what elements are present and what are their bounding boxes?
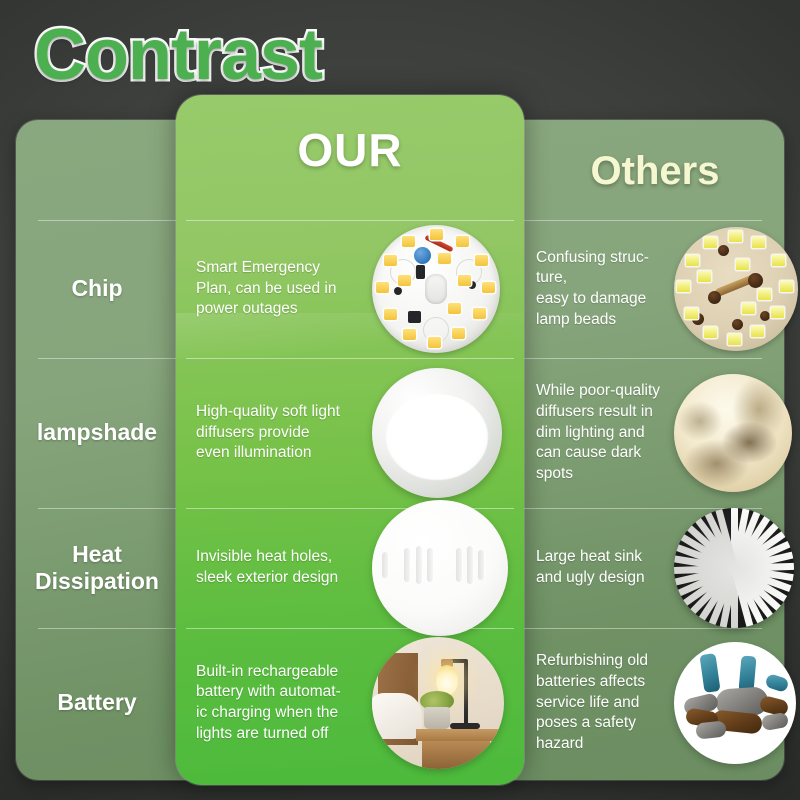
white-diffuser-sphere-icon [372,368,502,498]
smooth-white-disc-icon [372,500,508,636]
header-others: Others [524,122,786,220]
others-cell-chip: Confusing struc- ture, easy to damage la… [522,220,784,358]
others-cell-lampshade: While poor-quality diffusers result in d… [522,358,784,508]
our-text-chip: Smart Emergency Plan, can be used in pow… [196,258,368,320]
our-cell-chip: Smart Emergency Plan, can be used in pow… [178,220,522,358]
our-cell-battery: Built-in rechargeable battery with autom… [178,628,522,778]
led-chip-board-icon [372,225,500,353]
header-our: OUR [176,100,524,200]
page-title: Contrast [34,18,322,94]
others-text-heat-dissipation: Large heat sink and ugly design [536,547,672,588]
blotchy-diffuser-icon [674,374,792,492]
row-label-heat-dissipation: Heat Dissipation [16,508,178,628]
table-row: Chip Smart Emergency Plan, can be used i… [16,220,784,358]
our-cell-heat-dissipation: Invisible heat holes, sleek exterior des… [178,508,522,628]
our-cell-lampshade: High-quality soft light diffusers provid… [178,358,522,508]
our-text-heat-dissipation: Invisible heat holes, sleek exterior des… [196,547,368,588]
table-row: lampshade High-quality soft light diffus… [16,358,784,508]
finned-heat-sink-icon [674,508,794,628]
corroded-batteries-icon [674,642,796,764]
others-cell-battery: Refurbishing old batteries affects servi… [522,628,784,778]
row-label-battery: Battery [16,628,178,778]
our-text-lampshade: High-quality soft light diffusers provid… [196,402,368,464]
others-cell-heat-dissipation: Large heat sink and ugly design [522,508,784,628]
bedroom-lamp-scene-icon [372,637,504,769]
damaged-led-board-icon [674,227,798,351]
our-text-battery: Built-in rechargeable battery with autom… [196,662,368,744]
others-text-lampshade: While poor-quality diffusers result in d… [536,381,672,484]
row-label-chip: Chip [16,220,178,358]
page-title-wrap: Contrast [34,18,322,94]
row-label-lampshade: lampshade [16,358,178,508]
table-row: Battery Built-in rechargeable battery wi… [16,628,784,778]
table-row: Heat Dissipation Invisible heat holes, s… [16,508,784,628]
others-text-battery: Refurbishing old batteries affects servi… [536,651,672,754]
others-text-chip: Confusing struc- ture, easy to damage la… [536,248,672,330]
